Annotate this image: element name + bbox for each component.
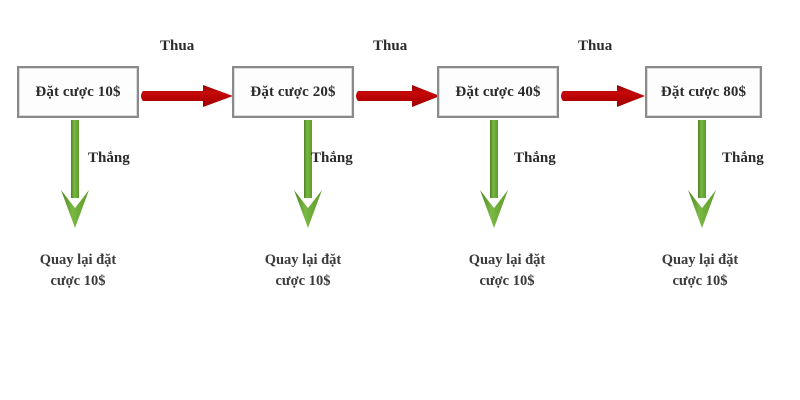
lose-label-step-3: Thua [578,38,612,55]
outcome-label-step-1: Quay lại đặt cược 10$ [3,250,153,292]
lose-arrow-step-1-to-2 [137,83,237,109]
outcome-label-step-3: Quay lại đặt cược 10$ [432,250,582,292]
bet-box-step-3[interactable]: Đặt cược 40$ [437,66,559,118]
win-label-step-4: Thắng [722,150,764,167]
lose-arrow-step-3-to-4 [557,83,649,109]
bet-box-label-step-1: Đặt cược 10$ [35,84,120,101]
win-label-step-3: Thắng [514,150,556,167]
bet-box-label-step-4: Đặt cược 80$ [661,84,746,101]
outcome-label-step-2: Quay lại đặt cược 10$ [228,250,378,292]
bet-box-label-step-3: Đặt cược 40$ [455,84,540,101]
bet-box-step-2[interactable]: Đặt cược 20$ [232,66,354,118]
win-label-step-1: Thắng [88,150,130,167]
diagram-canvas: Đặt cược 10$ Thua [0,0,800,400]
outcome-label-step-4: Quay lại đặt cược 10$ [625,250,775,292]
lose-arrow-step-2-to-3 [352,83,444,109]
lose-label-step-2: Thua [373,38,407,55]
win-arrow-step-2 [291,120,325,230]
lose-label-step-1: Thua [160,38,194,55]
win-arrow-step-4 [685,120,719,230]
bet-box-label-step-2: Đặt cược 20$ [250,84,335,101]
win-label-step-2: Thắng [311,150,353,167]
win-arrow-step-3 [477,120,511,230]
bet-box-step-1[interactable]: Đặt cược 10$ [17,66,139,118]
bet-box-step-4[interactable]: Đặt cược 80$ [645,66,762,118]
win-arrow-step-1 [58,120,92,230]
